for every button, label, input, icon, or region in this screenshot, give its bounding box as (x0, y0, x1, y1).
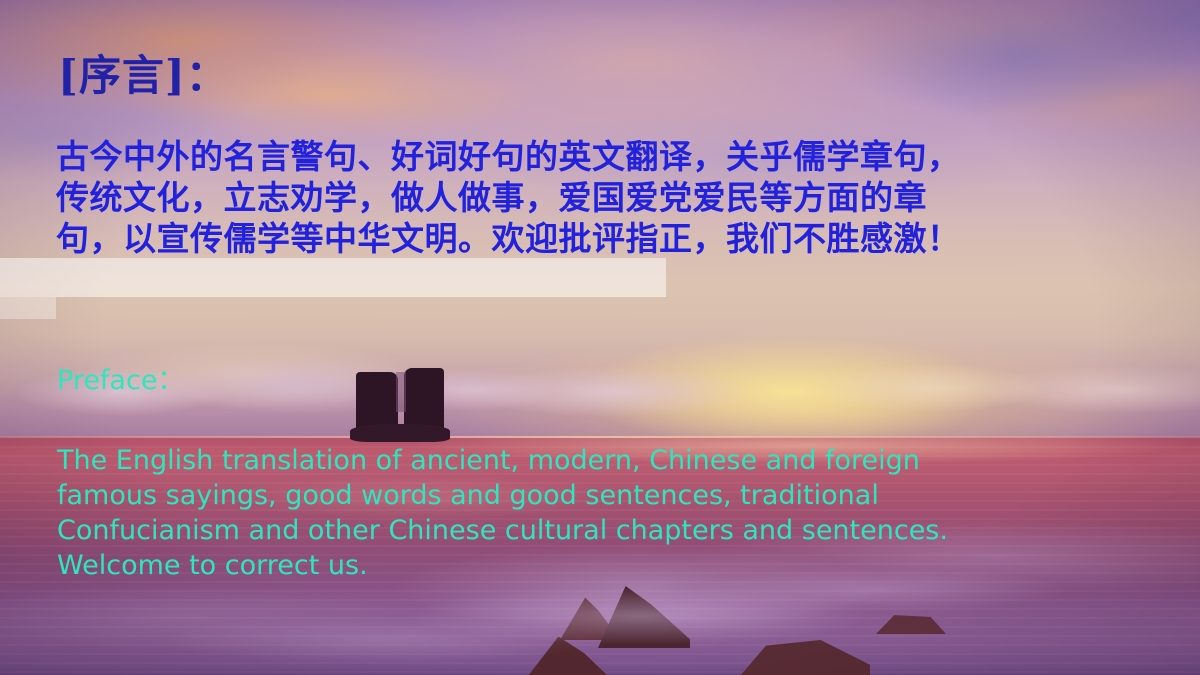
overlay-patch-small (0, 297, 56, 319)
horizon-line (0, 436, 1200, 438)
english-title: Preface： (57, 358, 184, 397)
chinese-body: 古今中外的名言警句、好词好句的英文翻译，关乎儒学章句， 传统文化，立志劝学，做人… (56, 136, 1156, 259)
english-body-line: Welcome to correct us. (57, 548, 1117, 583)
overlay-patch-center (333, 258, 666, 297)
chinese-title: [序言]： (58, 42, 229, 103)
chinese-body-line: 古今中外的名言警句、好词好句的英文翻译，关乎儒学章句， (56, 136, 1156, 177)
presentation-slide: [序言]： 古今中外的名言警句、好词好句的英文翻译，关乎儒学章句， 传统文化，立… (0, 0, 1200, 675)
rock-spire-base (350, 424, 450, 442)
english-body-line: Confucianism and other Chinese cultural … (57, 513, 1117, 548)
english-body-line: famous sayings, good words and good sent… (57, 478, 1117, 513)
overlay-patch-left (0, 258, 333, 297)
english-body: The English translation of ancient, mode… (57, 443, 1117, 583)
chinese-body-line: 传统文化，立志劝学，做人做事，爱国爱党爱民等方面的章 (56, 177, 1156, 218)
rock-spire-gap (396, 372, 406, 412)
english-body-line: The English translation of ancient, mode… (57, 443, 1117, 478)
chinese-body-line: 句，以宣传儒学等中华文明。欢迎批评指正，我们不胜感激！ (56, 218, 1156, 259)
